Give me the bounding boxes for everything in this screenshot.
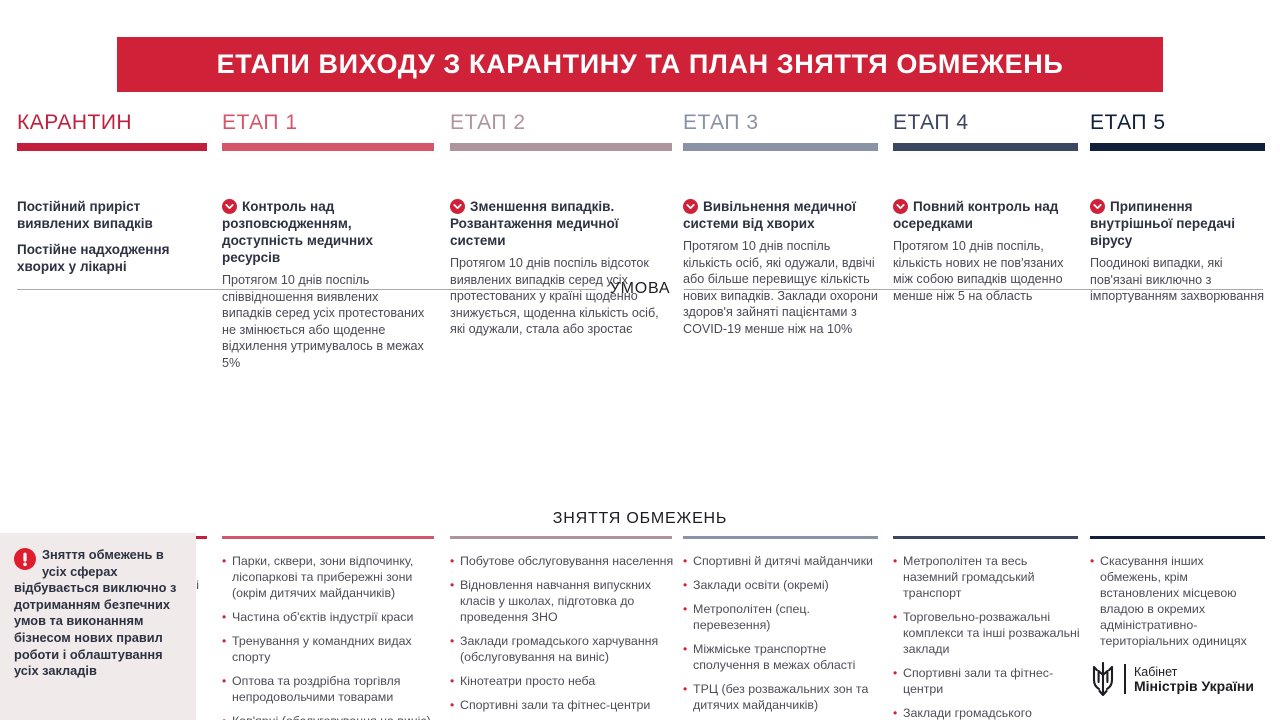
condition-block-4: Повний контроль над осередками Протягом … xyxy=(893,198,1073,304)
condition-title: Зменшення випадків. Розвантаження медичн… xyxy=(450,198,668,249)
logo-text: Кабінет Міністрів України xyxy=(1134,665,1254,693)
restriction-item: Заклади освіти (окремі) xyxy=(683,577,883,593)
restriction-item: Метрополітен (спец. перевезення) xyxy=(683,601,883,633)
band-rule-left xyxy=(17,519,539,520)
restriction-item: Парки, сквери, зони відпочинку, лісопарк… xyxy=(222,553,437,601)
restriction-item: ТРЦ (без розважальних зон та дитячих май… xyxy=(683,681,883,713)
restriction-item: Заклади громадського харчування (обслуго… xyxy=(450,633,678,665)
restriction-item: Заклади громадського харчування xyxy=(893,705,1083,720)
cabinet-of-ministers-logo: Кабінет Міністрів України xyxy=(1090,662,1254,696)
restrictions-rule xyxy=(1090,536,1265,539)
condition-title: Вивільнення медичної системи від хворих xyxy=(683,198,881,232)
restrictions-rule xyxy=(450,536,672,539)
restrictions-list-5: Скасування інших обмежень, крім встановл… xyxy=(1090,553,1268,657)
restrictions-list-2: Побутове обслуговування населенняВідновл… xyxy=(450,553,678,720)
condition-plain-line: Постійне надходження хворих у лікарні xyxy=(17,241,209,275)
trident-icon xyxy=(1090,662,1116,696)
restriction-item: Кінотеатри просто неба xyxy=(450,673,678,689)
condition-body: Протягом 10 днів поспіль кількість осіб,… xyxy=(683,238,881,337)
restrictions-list-4: Метрополітен та весь наземний громадськи… xyxy=(893,553,1083,720)
condition-block-1: Контроль над розповсюдженням, доступніст… xyxy=(222,198,428,371)
chevron-down-icon xyxy=(893,199,908,214)
stage-header-label: ЕТАП 3 xyxy=(683,110,878,136)
stage-header-rule xyxy=(683,143,878,151)
stage-header-label: ЕТАП 4 xyxy=(893,110,1078,136)
restriction-item: Відновлення навчання випускних класів у … xyxy=(450,577,678,625)
page-title: ЕТАПИ ВИХОДУ З КАРАНТИНУ ТА ПЛАН ЗНЯТТЯ … xyxy=(217,49,1064,80)
condition-title-text: Припинення внутрішньої передачі вірусу xyxy=(1090,199,1235,248)
stage-header-rule xyxy=(17,143,207,151)
condition-title-text: Повний контроль над осередками xyxy=(893,199,1058,231)
restriction-item: Побутове обслуговування населення xyxy=(450,553,678,569)
title-banner: ЕТАПИ ВИХОДУ З КАРАНТИНУ ТА ПЛАН ЗНЯТТЯ … xyxy=(117,37,1163,92)
restriction-item: Міжміське транспортне сполучення в межах… xyxy=(683,641,883,673)
condition-body: Протягом 10 днів поспіль, кількість нови… xyxy=(893,238,1073,304)
stage-header-label: ЕТАП 5 xyxy=(1090,110,1265,136)
restriction-item: Метрополітен та весь наземний громадськи… xyxy=(893,553,1083,601)
condition-block-quarantine: Постійний приріст виявлених випадків Пос… xyxy=(17,198,209,284)
stage-header-rule xyxy=(222,143,434,151)
warning-text: Зняття обмежень в усіх сферах відбуваєть… xyxy=(14,547,184,680)
stage-column-1: ЕТАП 1 xyxy=(222,110,434,151)
condition-title: Повний контроль над осередками xyxy=(893,198,1073,232)
stage-header-rule xyxy=(1090,143,1265,151)
logo-line-1: Кабінет xyxy=(1134,665,1254,679)
restriction-item: Спортивні зали та фітнес-центри xyxy=(450,697,678,713)
band-rule-right xyxy=(741,519,1263,520)
chevron-down-icon xyxy=(683,199,698,214)
condition-body: Поодинокі випадки, які пов'язані виключн… xyxy=(1090,255,1265,305)
restrictions-rule xyxy=(683,536,878,539)
stage-header-label: КАРАНТИН xyxy=(17,110,207,136)
restrictions-list-3: Спортивні й дитячі майданчикиЗаклади осв… xyxy=(683,553,883,720)
stage-column-quarantine: КАРАНТИН xyxy=(17,110,207,151)
stage-header-rule xyxy=(450,143,672,151)
restriction-item: Тренування у командних видах спорту xyxy=(222,633,437,665)
condition-body: Протягом 10 днів поспіль співвідношення … xyxy=(222,272,428,371)
condition-title: Контроль над розповсюдженням, доступніст… xyxy=(222,198,428,266)
restriction-item: Торговельно-розважальні комплекси та інш… xyxy=(893,609,1083,657)
condition-title-text: Зменшення випадків. Розвантаження медичн… xyxy=(450,199,619,248)
condition-block-5: Припинення внутрішньої передачі вірусу П… xyxy=(1090,198,1265,305)
chevron-down-icon xyxy=(450,199,465,214)
restriction-item: Оптова та роздрібна торгівля непродоволь… xyxy=(222,673,437,705)
restriction-item: Частина об'єктів індустрії краси xyxy=(222,609,437,625)
restriction-item: Спортивні зали та фітнес-центри xyxy=(893,665,1083,697)
stage-header-rule xyxy=(893,143,1078,151)
infographic-page: ЕТАПИ ВИХОДУ З КАРАНТИНУ ТА ПЛАН ЗНЯТТЯ … xyxy=(0,0,1280,720)
logo-line-2: Міністрів України xyxy=(1134,679,1254,693)
stage-header-label: ЕТАП 1 xyxy=(222,110,434,136)
condition-title-text: Контроль над розповсюдженням, доступніст… xyxy=(222,199,373,265)
restriction-item: Скасування інших обмежень, крім встановл… xyxy=(1090,553,1268,649)
exclamation-icon xyxy=(14,548,36,570)
restrictions-band: ЗНЯТТЯ ОБМЕЖЕНЬ xyxy=(0,508,1280,530)
restrictions-rule xyxy=(222,536,434,539)
condition-plain-line: Постійний приріст виявлених випадків xyxy=(17,198,209,232)
chevron-down-icon xyxy=(222,199,237,214)
stage-column-4: ЕТАП 4 xyxy=(893,110,1078,151)
condition-block-3: Вивільнення медичної системи від хворих … xyxy=(683,198,881,337)
stage-column-5: ЕТАП 5 xyxy=(1090,110,1265,151)
logo-divider xyxy=(1124,664,1126,694)
condition-title: Припинення внутрішньої передачі вірусу xyxy=(1090,198,1265,249)
stage-header-label: ЕТАП 2 xyxy=(450,110,672,136)
condition-title-text: Вивільнення медичної системи від хворих xyxy=(683,199,856,231)
chevron-down-icon xyxy=(1090,199,1105,214)
restriction-item: Кав'ярні (обслуговування на виніс) xyxy=(222,713,437,720)
condition-block-2: Зменшення випадків. Розвантаження медичн… xyxy=(450,198,668,338)
stage-column-2: ЕТАП 2 xyxy=(450,110,672,151)
condition-body: Протягом 10 днів поспіль відсоток виявле… xyxy=(450,255,668,338)
restrictions-rule xyxy=(893,536,1078,539)
restriction-item: Спортивні й дитячі майданчики xyxy=(683,553,883,569)
restrictions-band-label: ЗНЯТТЯ ОБМЕЖЕНЬ xyxy=(539,510,741,528)
stage-column-3: ЕТАП 3 xyxy=(683,110,878,151)
restrictions-list-1: Парки, сквери, зони відпочинку, лісопарк… xyxy=(222,553,437,720)
warning-box: Зняття обмежень в усіх сферах відбуваєть… xyxy=(0,533,196,720)
